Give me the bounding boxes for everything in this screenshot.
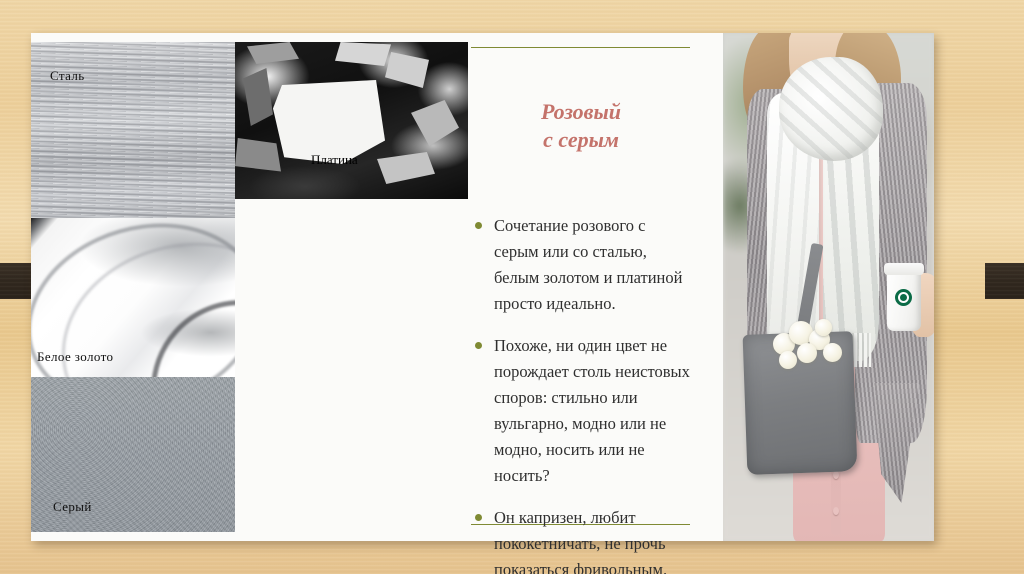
crystal-shape [243, 68, 273, 126]
bullet-dot-icon [475, 342, 482, 349]
swatch-image-white-gold: Белое золото [31, 218, 235, 377]
list-item: Сочетание розового с серым или со сталью… [468, 213, 694, 317]
white-scarf-knot [779, 57, 883, 161]
page-title-line1: Розовый [468, 98, 694, 126]
flower [779, 351, 797, 369]
wood-band-right [985, 263, 1024, 299]
crystal-shape [411, 100, 459, 146]
text-column: Розовый с серым Сочетание розового с сер… [468, 33, 694, 541]
bullet-list: Сочетание розового с серым или со сталью… [468, 213, 694, 574]
list-item-text: Он капризен, любит пококетничать, не про… [494, 508, 667, 574]
crystal-shape [235, 138, 281, 176]
slide-canvas: Сталь Белое золото Серый Платина [0, 0, 1024, 574]
dress-button [833, 471, 839, 479]
coffee-cup-lid [884, 263, 924, 275]
list-item-text: Сочетание розового с серым или со сталью… [494, 216, 682, 313]
swatch-label-steel: Сталь [50, 68, 85, 84]
crystal-shape [335, 42, 391, 66]
bullet-dot-icon [475, 514, 482, 521]
slide-card: Сталь Белое золото Серый Платина [31, 33, 934, 541]
white-flowers [771, 319, 853, 373]
swatch-image-platinum: Платина [235, 42, 468, 199]
crystal-shape [385, 52, 429, 88]
flower [797, 343, 817, 363]
flower [823, 343, 842, 362]
crystal-shape [247, 42, 299, 64]
swatch-label-white-gold: Белое золото [37, 349, 113, 365]
starbucks-logo-icon [900, 294, 907, 301]
wood-band-left [0, 263, 31, 299]
rule-top [471, 47, 690, 48]
page-title-line2: с серым [468, 126, 694, 154]
swatch-image-gray: Серый [31, 377, 235, 532]
swatch-image-steel: Сталь [31, 42, 235, 218]
flower [815, 319, 832, 336]
page-title: Розовый с серым [468, 98, 694, 154]
fashion-photo [723, 33, 934, 541]
crystal-shape [377, 152, 435, 184]
list-item-text: Похоже, ни один цвет не порождает столь … [494, 336, 690, 485]
list-item: Похоже, ни один цвет не порождает столь … [468, 333, 694, 489]
list-item: Он капризен, любит пококетничать, не про… [468, 505, 694, 574]
bullet-dot-icon [475, 222, 482, 229]
dress-button [833, 507, 839, 515]
swatch-label-platinum: Платина [311, 152, 358, 168]
swatch-label-gray: Серый [53, 499, 92, 515]
